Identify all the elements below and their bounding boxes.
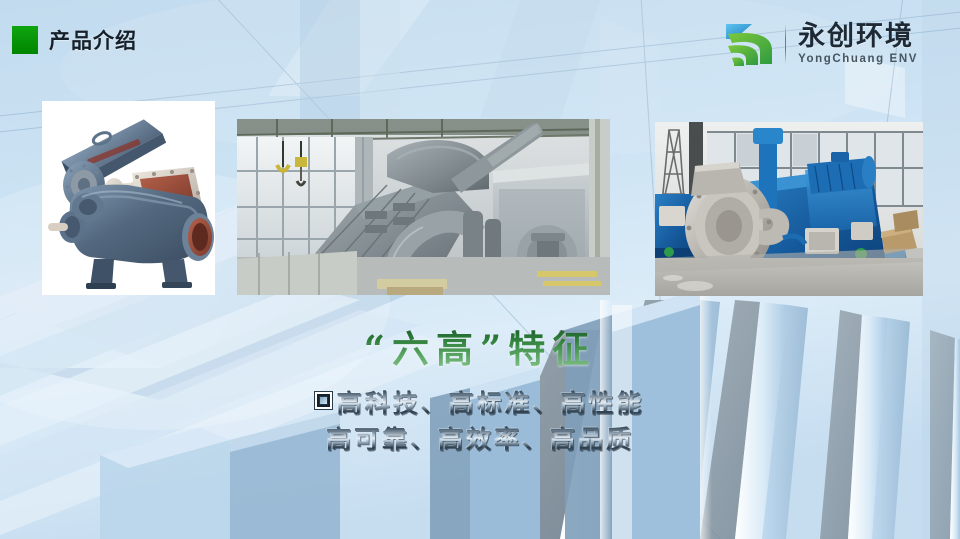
page-title: 产品介绍 — [49, 25, 137, 55]
feature-line-2: 高可靠、高效率、高品质 — [0, 422, 960, 458]
feature-line-1: 高科技、高标准、高性能 — [0, 386, 960, 422]
brand-name-cn: 永创环境 — [798, 23, 918, 50]
slide-header: 产品介绍 — [0, 0, 960, 80]
feature-line-1-text: 高科技、高标准、高性能 — [336, 389, 644, 418]
slide-canvas: 产品介绍 — [0, 0, 960, 539]
photo-split-case-pump — [42, 101, 215, 295]
company-logo: 永创环境 YongChuang ENV — [722, 20, 918, 68]
yongchuang-leaf-mark-icon — [722, 20, 776, 68]
logo-wordmark: 永创环境 YongChuang ENV — [795, 23, 918, 66]
brand-name-en: YongChuang ENV — [798, 54, 918, 66]
section-title-block: 产品介绍 — [12, 25, 137, 55]
feature-body: 高科技、高标准、高性能 高可靠、高效率、高品质 — [0, 386, 960, 457]
feature-line-2-text: 高可靠、高效率、高品质 — [326, 425, 634, 454]
square-bullet-icon — [315, 392, 332, 409]
photo-blue-blower-unit — [655, 122, 923, 296]
section-marker-icon — [12, 26, 38, 54]
photo-industrial-fan-installation — [237, 119, 610, 295]
feature-heading: “六高”特征 — [0, 328, 960, 371]
logo-divider — [785, 24, 786, 64]
